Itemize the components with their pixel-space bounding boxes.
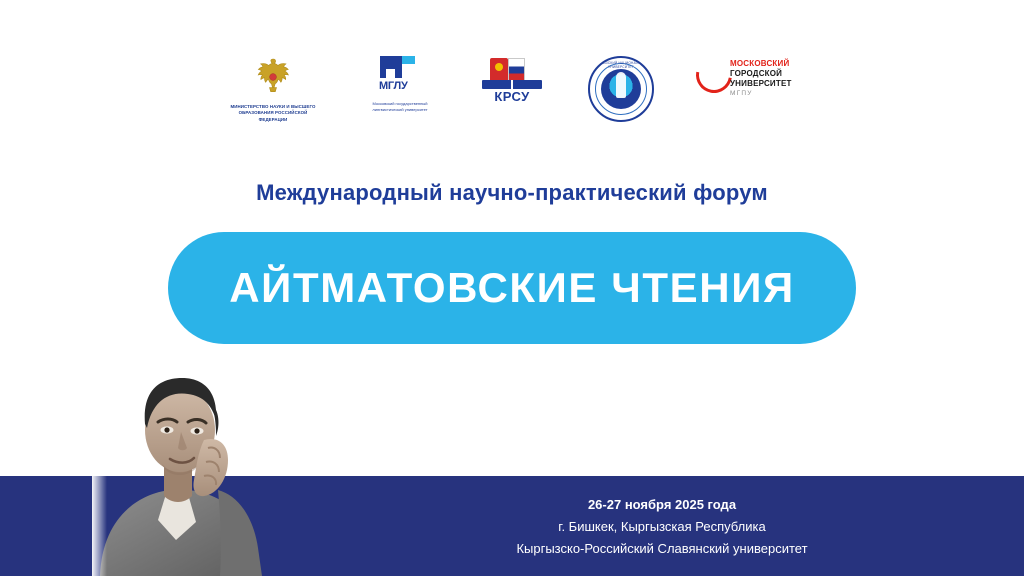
logo-university-seal: КЫРГЫЗСКИЙ НАЦИОНАЛЬНЫЙ УНИВЕРСИТЕТ: [588, 56, 654, 122]
logo-krsu-abbr: КРСУ: [478, 89, 546, 104]
logo-mglu: МГЛУ Московский государственный лингвист…: [364, 56, 436, 112]
krsu-mark-icon: КРСУ: [478, 56, 546, 100]
poster-canvas: МИНИСТЕРСТВО НАУКИ И ВЫСШЕГО ОБРАЗОВАНИЯ…: [0, 0, 1024, 576]
forum-subtitle: Международный научно-практический форум: [0, 180, 1024, 206]
mglu-mark-icon: МГЛУ: [377, 56, 423, 98]
portrait-chingiz-aitmatov: [92, 344, 272, 576]
seal-round-icon: КЫРГЫЗСКИЙ НАЦИОНАЛЬНЫЙ УНИВЕРСИТЕТ: [588, 56, 654, 122]
mgpu-mark-icon: МОСКОВСКИЙ ГОРОДСКОЙ УНИВЕРСИТЕТ МГПУ: [696, 56, 800, 104]
seal-caption: КЫРГЫЗСКИЙ НАЦИОНАЛЬНЫЙ УНИВЕРСИТЕТ: [590, 61, 652, 69]
title-pill: АЙТМАТОВСКИЕ ЧТЕНИЯ: [168, 232, 856, 344]
logo-row: МИНИСТЕРСТВО НАУКИ И ВЫСШЕГО ОБРАЗОВАНИЯ…: [0, 56, 1024, 123]
footer-date: 26-27 ноября 2025 года: [588, 497, 736, 512]
logo-ministry-of-science: МИНИСТЕРСТВО НАУКИ И ВЫСШЕГО ОБРАЗОВАНИЯ…: [224, 56, 322, 123]
logo-mgpu-line2: ГОРОДСКОЙ: [730, 69, 782, 78]
logo-ministry-caption: МИНИСТЕРСТВО НАУКИ И ВЫСШЕГО ОБРАЗОВАНИЯ…: [224, 104, 322, 123]
logo-mgpu-line3: УНИВЕРСИТЕТ: [730, 79, 792, 88]
logo-mglu-caption: Московский государственный лингвистическ…: [364, 101, 436, 112]
page-title: АЙТМАТОВСКИЕ ЧТЕНИЯ: [229, 264, 795, 312]
logo-krsu: КРСУ: [478, 56, 546, 100]
logo-mgpu-line4: МГПУ: [730, 90, 753, 97]
open-book-icon: [482, 80, 542, 89]
logo-mglu-abbr: МГЛУ: [379, 80, 408, 92]
logo-mgpu-line1: МОСКОВСКИЙ: [730, 59, 789, 68]
logo-moscow-city-university: МОСКОВСКИЙ ГОРОДСКОЙ УНИВЕРСИТЕТ МГПУ: [696, 56, 800, 104]
footer-city: г. Бишкек, Кыргызская Республика: [558, 519, 765, 534]
footer-university: Кыргызско-Российский Славянский универси…: [516, 541, 807, 556]
russian-flag-icon: [508, 58, 525, 82]
double-headed-eagle-icon: [254, 56, 292, 98]
